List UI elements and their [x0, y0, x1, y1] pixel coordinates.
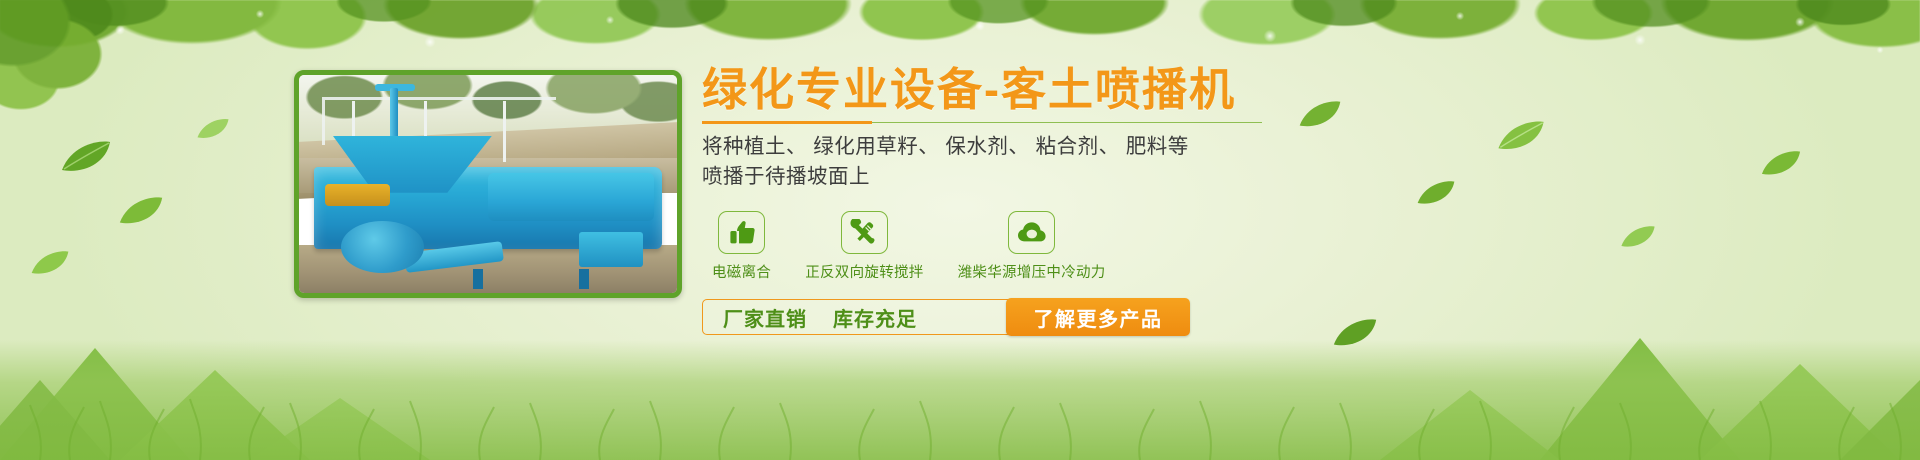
feature-label: 潍柴华源增压中冷动力 [958, 261, 1106, 282]
divider-orange-segment [702, 121, 872, 124]
left-corner-foliage-decoration [0, 0, 260, 180]
banner-content: 绿化专业设备-客土喷播机 将种植土、 绿化用草籽、 保水剂、 粘合剂、 肥料等 … [702, 66, 1582, 335]
grass-blades-decoration [0, 365, 1920, 460]
floating-leaf-icon [30, 250, 70, 276]
divider-green-segment [872, 122, 1262, 123]
feature-icon-box [718, 211, 765, 254]
floating-leaf-icon [196, 118, 230, 140]
feature-icon-box [1008, 211, 1055, 254]
product-photo [294, 70, 682, 298]
product-photo-image [299, 75, 677, 293]
thumbs-up-icon [728, 220, 756, 246]
cta-tag-factory-direct: 厂家直销 [723, 303, 807, 332]
floating-leaf-icon [60, 140, 112, 174]
feature-item-electromagnetic-clutch[interactable]: 电磁离合 [712, 211, 771, 282]
cta-bar: 厂家直销 库存充足 了解更多产品 [702, 299, 1189, 335]
feature-item-bidirectional-mixing[interactable]: 正反双向旋转搅拌 [805, 211, 923, 282]
feature-label: 正反双向旋转搅拌 [805, 261, 923, 282]
feature-list: 电磁离合 正反双向旋转搅拌 [702, 211, 1582, 282]
banner-title: 绿化专业设备-客土喷播机 [702, 66, 1582, 115]
learn-more-button[interactable]: 了解更多产品 [1006, 298, 1190, 336]
feature-item-weichai-power[interactable]: 潍柴华源增压中冷动力 [958, 211, 1106, 282]
floating-leaf-icon [1760, 150, 1802, 177]
wrench-screwdriver-icon [850, 219, 878, 247]
title-divider [702, 121, 1262, 124]
banner-subtitle-line2: 喷播于待播坡面上 [702, 162, 1582, 193]
floating-leaf-icon [1620, 225, 1656, 249]
feature-icon-box [841, 211, 888, 254]
engine-cloud-icon [1017, 221, 1047, 245]
promo-banner: 绿化专业设备-客土喷播机 将种植土、 绿化用草籽、 保水剂、 粘合剂、 肥料等 … [0, 0, 1920, 460]
floating-leaf-icon [118, 196, 164, 226]
cta-tag-stock-sufficient: 库存充足 [833, 303, 917, 332]
feature-label: 电磁离合 [712, 261, 771, 282]
banner-subtitle-line1: 将种植土、 绿化用草籽、 保水剂、 粘合剂、 肥料等 [702, 132, 1582, 163]
